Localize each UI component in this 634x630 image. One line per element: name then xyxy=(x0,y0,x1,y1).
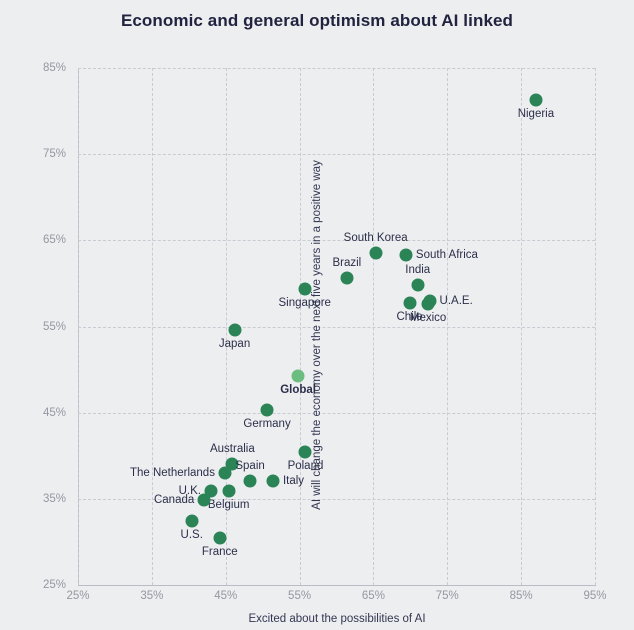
data-point-label-mexico: Mexico xyxy=(410,312,446,324)
data-point-u-s[interactable] xyxy=(185,515,198,528)
data-point-label-the-netherlands: The Netherlands xyxy=(130,467,215,479)
data-point-label-france: France xyxy=(202,546,238,558)
gridline-horizontal xyxy=(78,413,595,414)
data-point-poland[interactable] xyxy=(299,446,312,459)
gridline-horizontal xyxy=(78,68,595,69)
x-axis-tick-label: 45% xyxy=(196,590,256,602)
data-point-label-u-s: U.S. xyxy=(181,529,203,541)
data-point-india[interactable] xyxy=(411,279,424,292)
data-point-italy[interactable] xyxy=(266,474,279,487)
data-point-label-australia: Australia xyxy=(210,443,255,455)
data-point-label-italy: Italy xyxy=(283,475,304,487)
data-point-label-spain: Spain xyxy=(235,460,264,472)
data-point-label-south-korea: South Korea xyxy=(344,232,408,244)
gridline-vertical xyxy=(595,68,596,585)
chart-title: Economic and general optimism about AI l… xyxy=(0,11,634,31)
data-point-label-canada: Canada xyxy=(154,494,194,506)
gridline-horizontal xyxy=(78,154,595,155)
x-axis-line xyxy=(78,585,596,586)
gridline-vertical xyxy=(300,68,301,585)
gridline-horizontal xyxy=(78,327,595,328)
data-point-mexico[interactable] xyxy=(422,298,435,311)
data-point-label-germany: Germany xyxy=(243,418,290,430)
data-point-label-brazil: Brazil xyxy=(332,257,361,269)
y-axis-tick-label: 55% xyxy=(0,321,66,333)
data-point-belgium[interactable] xyxy=(222,485,235,498)
gridline-vertical xyxy=(521,68,522,585)
x-axis-tick-label: 55% xyxy=(270,590,330,602)
data-point-label-poland: Poland xyxy=(288,460,324,472)
data-point-label-nigeria: Nigeria xyxy=(518,108,554,120)
y-axis-tick-label: 45% xyxy=(0,407,66,419)
data-point-singapore[interactable] xyxy=(298,282,311,295)
y-axis-tick-label: 35% xyxy=(0,493,66,505)
data-point-label-south-africa: South Africa xyxy=(416,249,478,261)
y-axis-tick-label: 65% xyxy=(0,234,66,246)
x-axis-tick-label: 65% xyxy=(343,590,403,602)
x-axis-tick-label: 25% xyxy=(48,590,108,602)
gridline-horizontal xyxy=(78,240,595,241)
data-point-south-africa[interactable] xyxy=(399,248,412,261)
data-point-spain[interactable] xyxy=(244,474,257,487)
x-axis-tick-label: 35% xyxy=(122,590,182,602)
gridline-vertical xyxy=(447,68,448,585)
data-point-global[interactable] xyxy=(292,369,305,382)
data-point-label-global: Global xyxy=(280,384,316,396)
y-axis-tick-label: 25% xyxy=(0,579,66,591)
data-point-canada[interactable] xyxy=(198,493,211,506)
y-axis-tick-label: 85% xyxy=(0,62,66,74)
data-point-label-japan: Japan xyxy=(219,338,250,350)
data-point-japan[interactable] xyxy=(228,323,241,336)
x-axis-tick-label: 75% xyxy=(417,590,477,602)
x-axis-label: Excited about the possibilities of AI xyxy=(78,613,596,625)
gridline-vertical xyxy=(373,68,374,585)
gridline-vertical xyxy=(78,68,79,585)
data-point-south-korea[interactable] xyxy=(369,247,382,260)
data-point-germany[interactable] xyxy=(261,404,274,417)
data-point-label-singapore: Singapore xyxy=(279,297,331,309)
data-point-label-belgium: Belgium xyxy=(208,499,250,511)
gridline-vertical xyxy=(152,68,153,585)
data-point-label-u-a-e: U.A.E. xyxy=(440,295,473,307)
data-point-brazil[interactable] xyxy=(340,272,353,285)
x-axis-tick-label: 95% xyxy=(565,590,625,602)
scatter-chart: Economic and general optimism about AI l… xyxy=(0,0,634,630)
x-axis-tick-label: 85% xyxy=(491,590,551,602)
data-point-chile[interactable] xyxy=(403,297,416,310)
data-point-nigeria[interactable] xyxy=(529,93,542,106)
data-point-the-netherlands[interactable] xyxy=(218,466,231,479)
data-point-label-india: India xyxy=(405,264,430,276)
data-point-france[interactable] xyxy=(213,531,226,544)
plot-area xyxy=(78,68,595,585)
y-axis-tick-label: 75% xyxy=(0,148,66,160)
